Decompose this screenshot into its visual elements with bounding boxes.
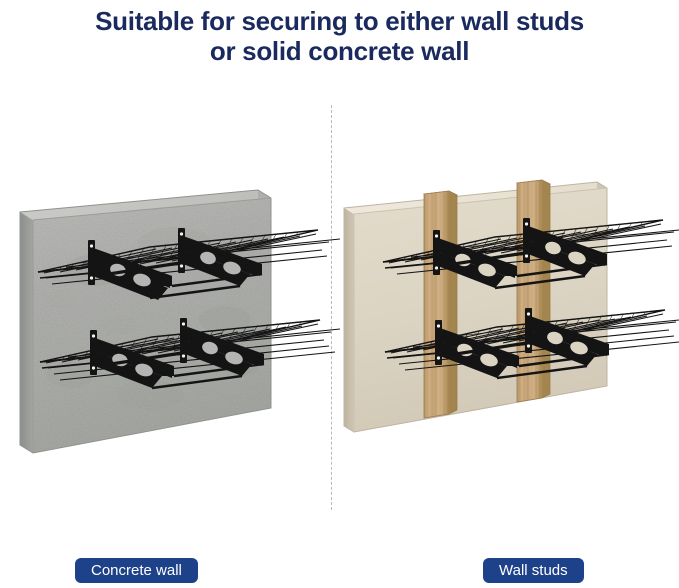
page-title-line-1: Suitable for securing to either wall stu…	[0, 6, 679, 36]
concrete-slab	[20, 190, 271, 453]
illustration-concrete-wall	[0, 150, 340, 480]
page-title-line-2: or solid concrete wall	[0, 36, 679, 66]
badge-concrete-wall: Concrete wall	[75, 558, 198, 583]
drywall-panel	[344, 182, 607, 432]
page-title: Suitable for securing to either wall stu…	[0, 6, 679, 66]
illustration-wall-studs	[339, 150, 679, 480]
wall-stud	[424, 191, 457, 418]
badge-wall-studs: Wall studs	[483, 558, 584, 583]
wall-stud	[517, 180, 550, 402]
